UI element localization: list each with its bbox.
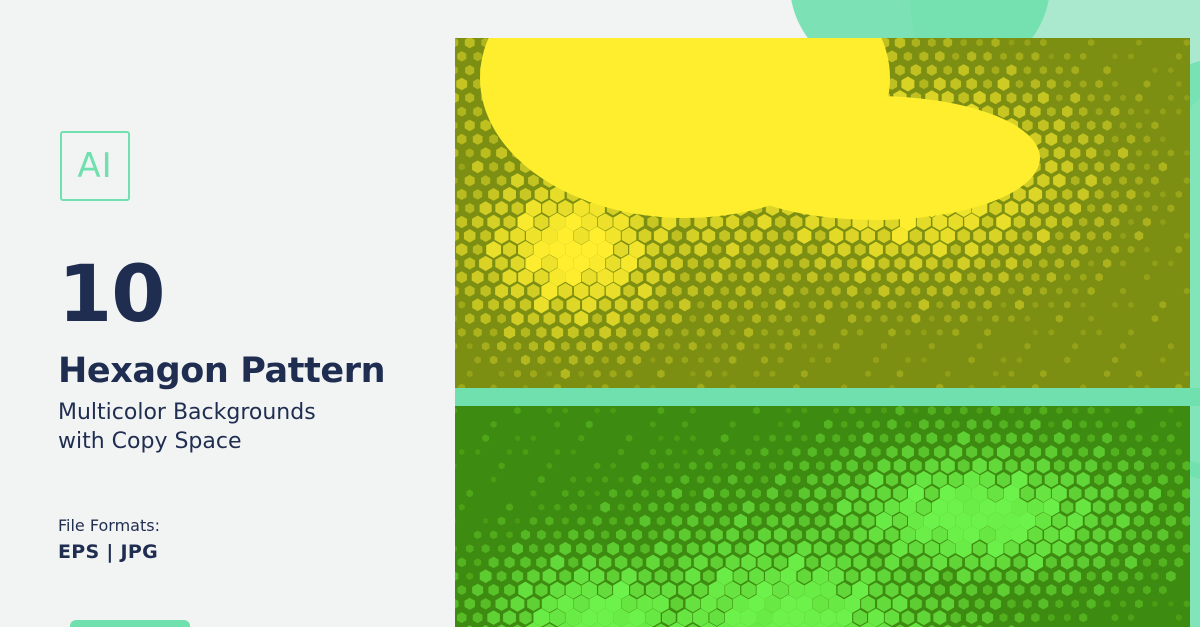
decorative-mint-band — [455, 388, 1200, 406]
promo-banner: AI 10 Hexagon Pattern Multicolor Backgro… — [0, 0, 1200, 627]
page-subtitle-line-2: with Copy Space — [58, 427, 448, 456]
page-title: Hexagon Pattern — [58, 352, 385, 391]
file-formats-value: EPS | JPG — [58, 541, 158, 563]
info-panel: AI 10 Hexagon Pattern Multicolor Backgro… — [0, 0, 455, 627]
preview-olive-yellow — [455, 38, 1190, 388]
hexagon-halftone-pattern-2 — [455, 406, 1190, 627]
hexagon-halftone-pattern-1 — [455, 38, 1190, 388]
asset-count: 10 — [58, 256, 165, 334]
preview-green-lime — [455, 406, 1190, 627]
page-subtitle-line-1: Multicolor Backgrounds — [58, 398, 448, 427]
ai-format-badge-label: AI — [62, 133, 128, 199]
ai-format-badge: AI — [60, 131, 130, 201]
file-formats-label: File Formats: — [58, 516, 160, 535]
page-subtitle: Multicolor Backgrounds with Copy Space — [58, 398, 448, 456]
decorative-bottom-pill — [70, 620, 190, 627]
